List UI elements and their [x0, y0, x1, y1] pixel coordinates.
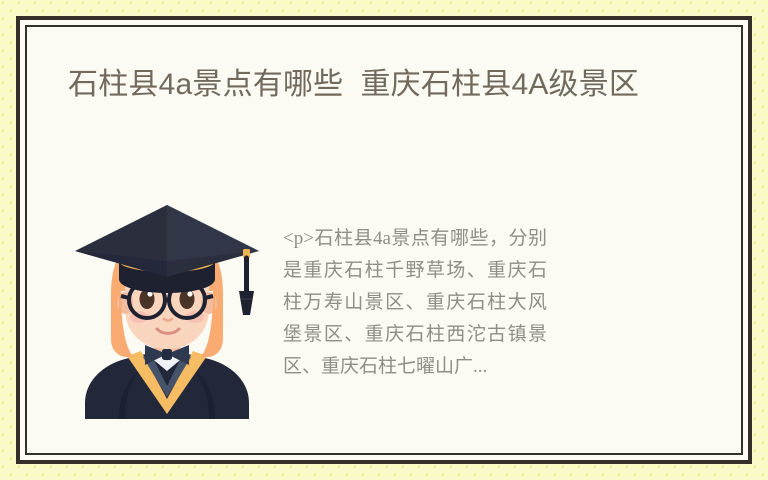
tassel — [239, 249, 254, 315]
card-inner-frame: 石柱县4a景点有哪些 重庆石柱县4A级景区 — [25, 25, 743, 455]
graduation-cap-icon — [75, 205, 259, 277]
page-background: 石柱县4a景点有哪些 重庆石柱县4A级景区 — [0, 0, 768, 480]
avatar — [67, 199, 267, 419]
card-outer-frame: 石柱县4a景点有哪些 重庆石柱县4A级景区 — [16, 16, 752, 464]
graduate-student-illustration — [67, 199, 267, 419]
article-excerpt: <p>石柱县4a景点有哪些，分别是重庆石柱千野草场、重庆石柱万寿山景区、重庆石柱… — [283, 223, 547, 383]
page-title: 石柱县4a景点有哪些 重庆石柱县4A级景区 — [68, 64, 708, 105]
card-content: 石柱县4a景点有哪些 重庆石柱县4A级景区 — [27, 27, 741, 453]
content-row: <p>石柱县4a景点有哪些，分别是重庆石柱千野草场、重庆石柱万寿山景区、重庆石柱… — [27, 187, 741, 437]
